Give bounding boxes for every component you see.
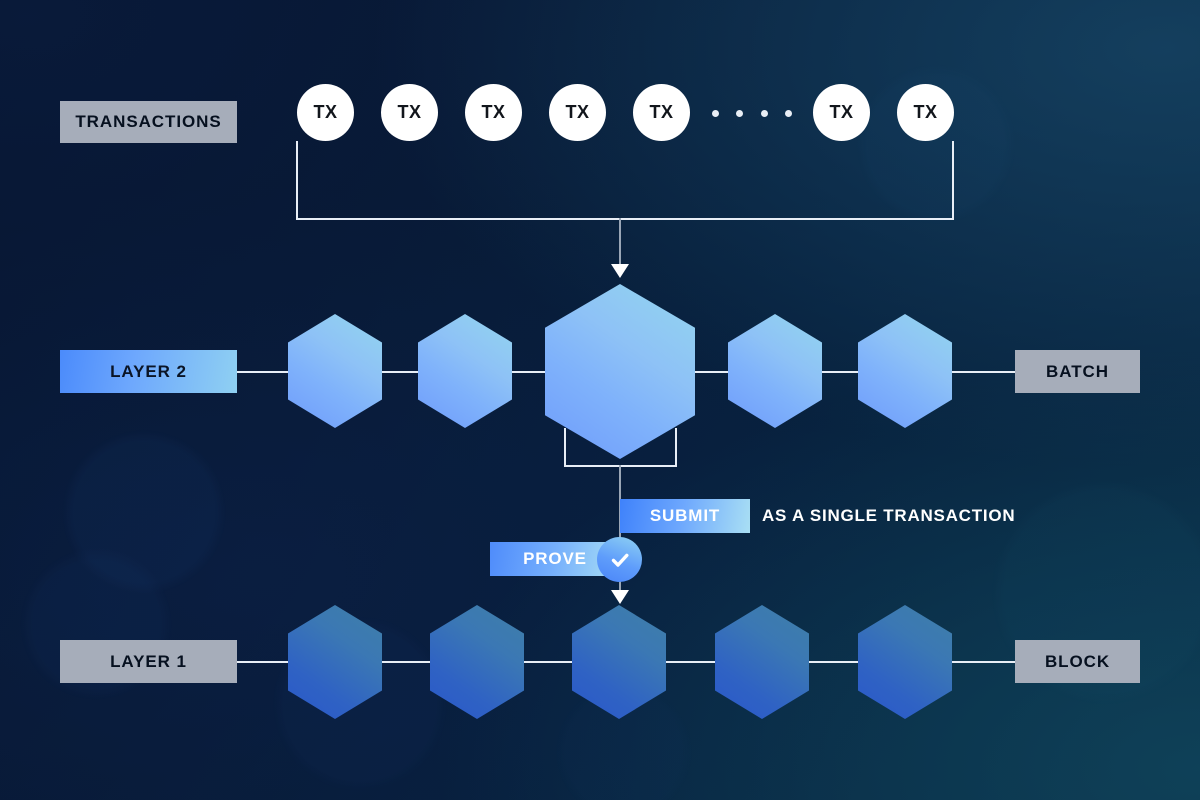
mid-bracket-right-leg: [675, 428, 677, 466]
tx-circle-label: TX: [397, 102, 421, 123]
layer1-hex-node[interactable]: [288, 605, 382, 719]
bracket-left-leg: [296, 141, 298, 219]
tx-circle[interactable]: TX: [297, 84, 354, 141]
layer2-label-text: LAYER 2: [110, 362, 187, 382]
layer2-hex-node[interactable]: [545, 284, 695, 459]
l1-line-5: [800, 661, 866, 663]
arrow-down-icon-to-layer1: [611, 590, 629, 604]
mid-bracket-crossbar: [564, 465, 677, 467]
submit-badge[interactable]: SUBMIT: [620, 499, 750, 533]
bracket-crossbar: [296, 218, 954, 220]
layer1-label-text: LAYER 1: [110, 652, 187, 672]
submit-note-text: AS A SINGLE TRANSACTION: [762, 506, 1015, 526]
tx-circle[interactable]: TX: [633, 84, 690, 141]
batch-label: BATCH: [1015, 350, 1140, 393]
transactions-label: TRANSACTIONS: [60, 101, 237, 143]
transactions-label-text: TRANSACTIONS: [75, 112, 221, 132]
tx-circle[interactable]: TX: [465, 84, 522, 141]
tx-circle-label: TX: [649, 102, 673, 123]
tx-circle-label: TX: [481, 102, 505, 123]
prove-badge-text: PROVE: [523, 549, 587, 569]
layer1-hex-node[interactable]: [715, 605, 809, 719]
l1-line-2: [373, 661, 439, 663]
l2-line-6: [944, 371, 1016, 373]
tx-circle[interactable]: TX: [549, 84, 606, 141]
tx-circle-label: TX: [565, 102, 589, 123]
l1-line-3: [515, 661, 581, 663]
check-icon: [597, 537, 642, 582]
tx-circle[interactable]: TX: [381, 84, 438, 141]
bracket-right-leg: [952, 141, 954, 219]
tx-circle-label: TX: [313, 102, 337, 123]
layer2-hex-node[interactable]: [418, 314, 512, 428]
layer1-hex-node[interactable]: [430, 605, 524, 719]
mid-bracket-left-leg: [564, 428, 566, 466]
ellipsis-dots-icon: [712, 108, 792, 118]
l1-line-6: [944, 661, 1016, 663]
tx-circle-label: TX: [913, 102, 937, 123]
l1-line-4: [657, 661, 723, 663]
submit-badge-text: SUBMIT: [650, 506, 720, 526]
block-label-text: BLOCK: [1045, 652, 1110, 672]
batch-label-text: BATCH: [1046, 362, 1109, 382]
tx-circle[interactable]: TX: [897, 84, 954, 141]
tx-circle-label: TX: [829, 102, 853, 123]
layer1-hex-node[interactable]: [572, 605, 666, 719]
layer2-hex-node[interactable]: [858, 314, 952, 428]
tx-circle[interactable]: TX: [813, 84, 870, 141]
layer2-label: LAYER 2: [60, 350, 237, 393]
diagram-canvas: TRANSACTIONS TXTXTXTXTXTXTX LAYER 2 BATC…: [0, 0, 1200, 800]
layer1-label: LAYER 1: [60, 640, 237, 683]
layer2-hex-node[interactable]: [728, 314, 822, 428]
layer2-hex-node[interactable]: [288, 314, 382, 428]
layer1-hex-node[interactable]: [858, 605, 952, 719]
block-label: BLOCK: [1015, 640, 1140, 683]
bracket-to-layer2-stem: [619, 218, 621, 266]
arrow-down-icon-to-layer2: [611, 264, 629, 278]
